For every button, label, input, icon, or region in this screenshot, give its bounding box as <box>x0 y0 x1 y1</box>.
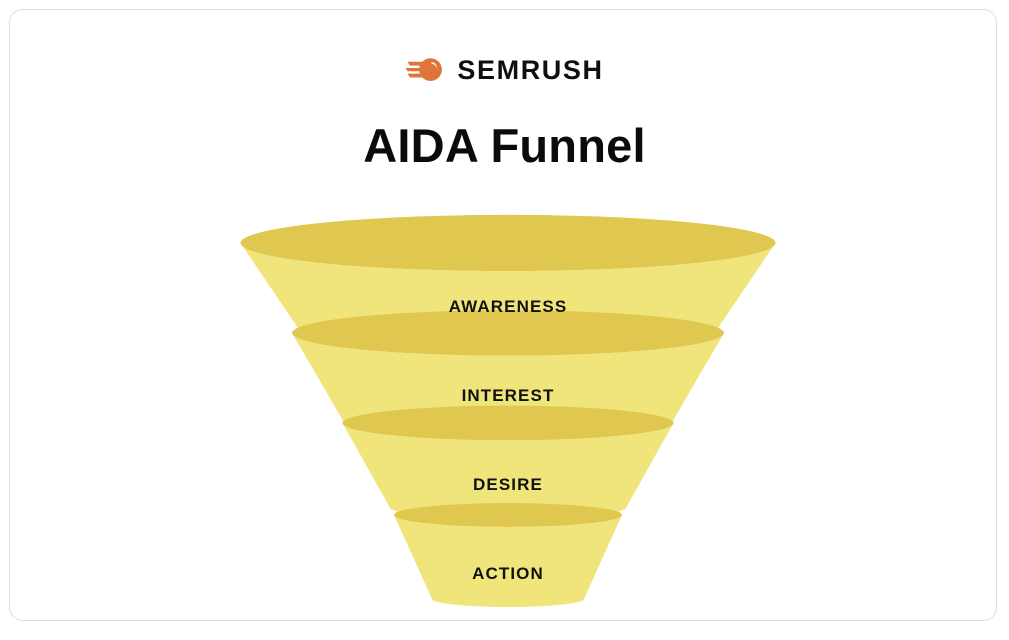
page-title: AIDA Funnel <box>0 120 1009 172</box>
funnel-stage-label-awareness: AWARENESS <box>449 297 568 317</box>
funnel-stage-label-interest: INTEREST <box>462 386 555 406</box>
semrush-logo: SEMRUSH <box>0 50 1009 90</box>
semrush-wordmark: SEMRUSH <box>457 57 603 84</box>
funnel-stage-label-desire: DESIRE <box>473 475 543 495</box>
poster-canvas: SEMRUSH AIDA Funnel AWARENESSINTERESTDES… <box>0 0 1009 640</box>
funnel-stage-label-action: ACTION <box>472 564 544 584</box>
semrush-comet-icon <box>405 55 445 85</box>
